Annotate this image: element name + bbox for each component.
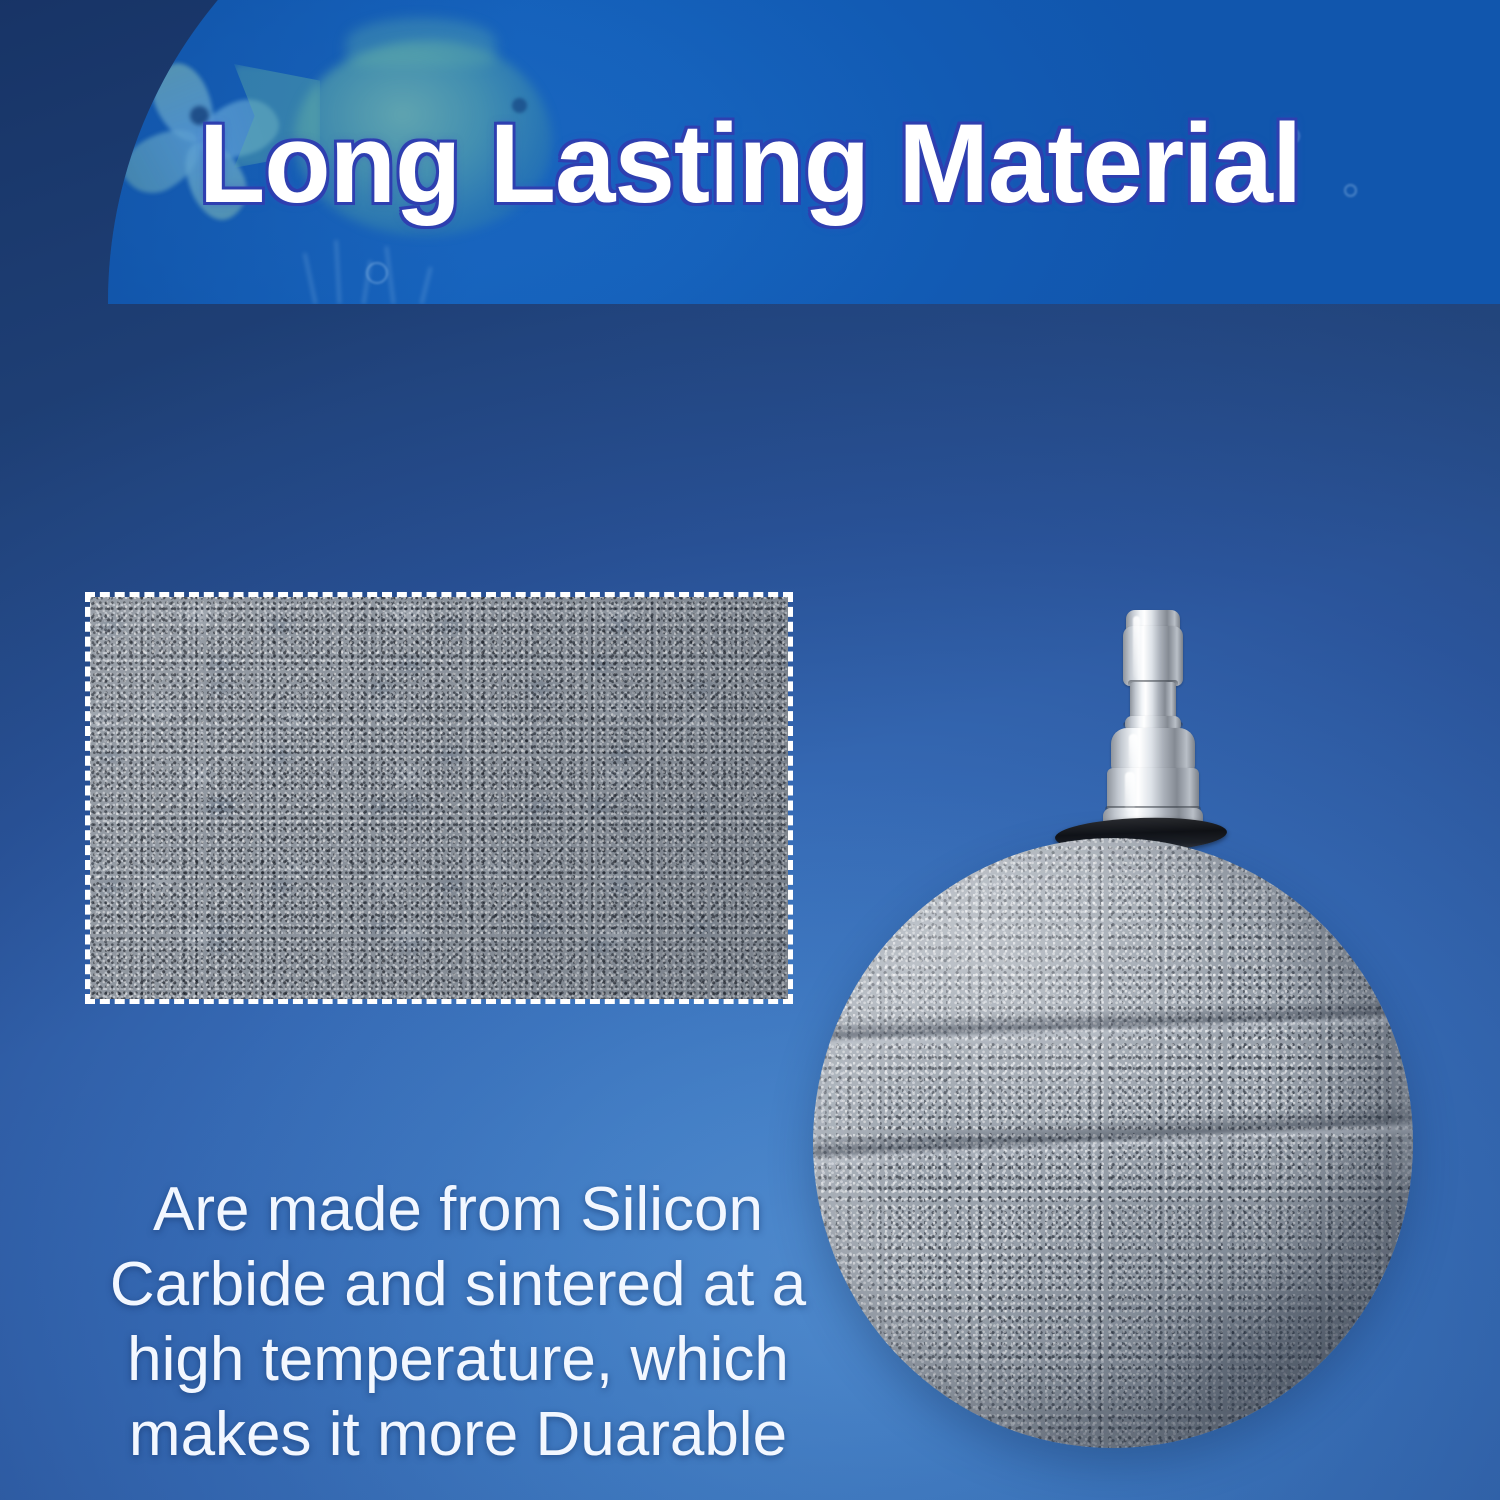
page-title: Long Lasting Material [23, 108, 1478, 220]
texture-shading [90, 597, 788, 999]
description-text: Are made from Silicon Carbide and sinter… [78, 1172, 838, 1472]
infographic-canvas: Long Lasting Material [0, 0, 1500, 1500]
aquatic-plant-icon [304, 234, 504, 304]
air-stone-sphere [813, 838, 1413, 1448]
product-image [805, 580, 1500, 1470]
bubble-icon [366, 262, 388, 284]
metal-nozzle-icon [1093, 610, 1213, 838]
seam-bulge-right [1390, 1045, 1413, 1179]
material-texture-swatch [85, 592, 793, 1004]
seam-bulge-left [813, 1021, 833, 1143]
